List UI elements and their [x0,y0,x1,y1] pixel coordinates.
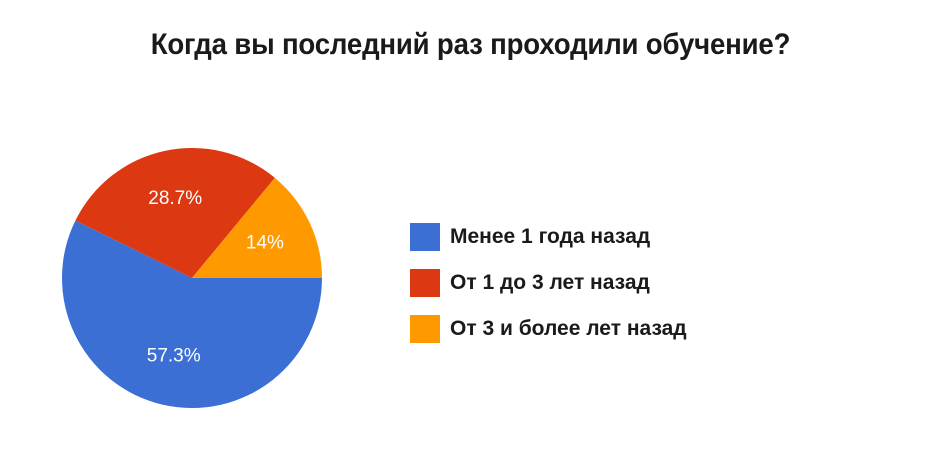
legend-item-ot-3-i-bolee-let[interactable]: От 3 и более лет назад [410,306,687,352]
legend-item-label: Менее 1 года назад [450,225,650,249]
legend-swatch-icon [410,223,440,251]
legend-swatch-icon [410,269,440,297]
pie-chart-svg: 57.3% 28.7% 14% [61,147,323,409]
pie-slice-label-1: 28.7% [148,188,202,209]
legend-item-label: От 3 и более лет назад [450,317,687,341]
legend-item-label: От 1 до 3 лет назад [450,271,650,295]
legend-swatch-icon [410,315,440,343]
page-title: Когда вы последний раз проходили обучени… [38,28,904,62]
legend-item-menee-1-goda[interactable]: Менее 1 года назад [410,214,687,260]
pie-slice-label-2: 14% [246,233,284,254]
legend-item-ot-1-do-3-let[interactable]: От 1 до 3 лет назад [410,260,687,306]
pie-chart: 57.3% 28.7% 14% [61,147,323,409]
chart-legend: Менее 1 года назад От 1 до 3 лет назад О… [410,214,687,352]
pie-slice-label-0: 57.3% [147,346,201,367]
chart-page: Когда вы последний раз проходили обучени… [0,0,941,462]
